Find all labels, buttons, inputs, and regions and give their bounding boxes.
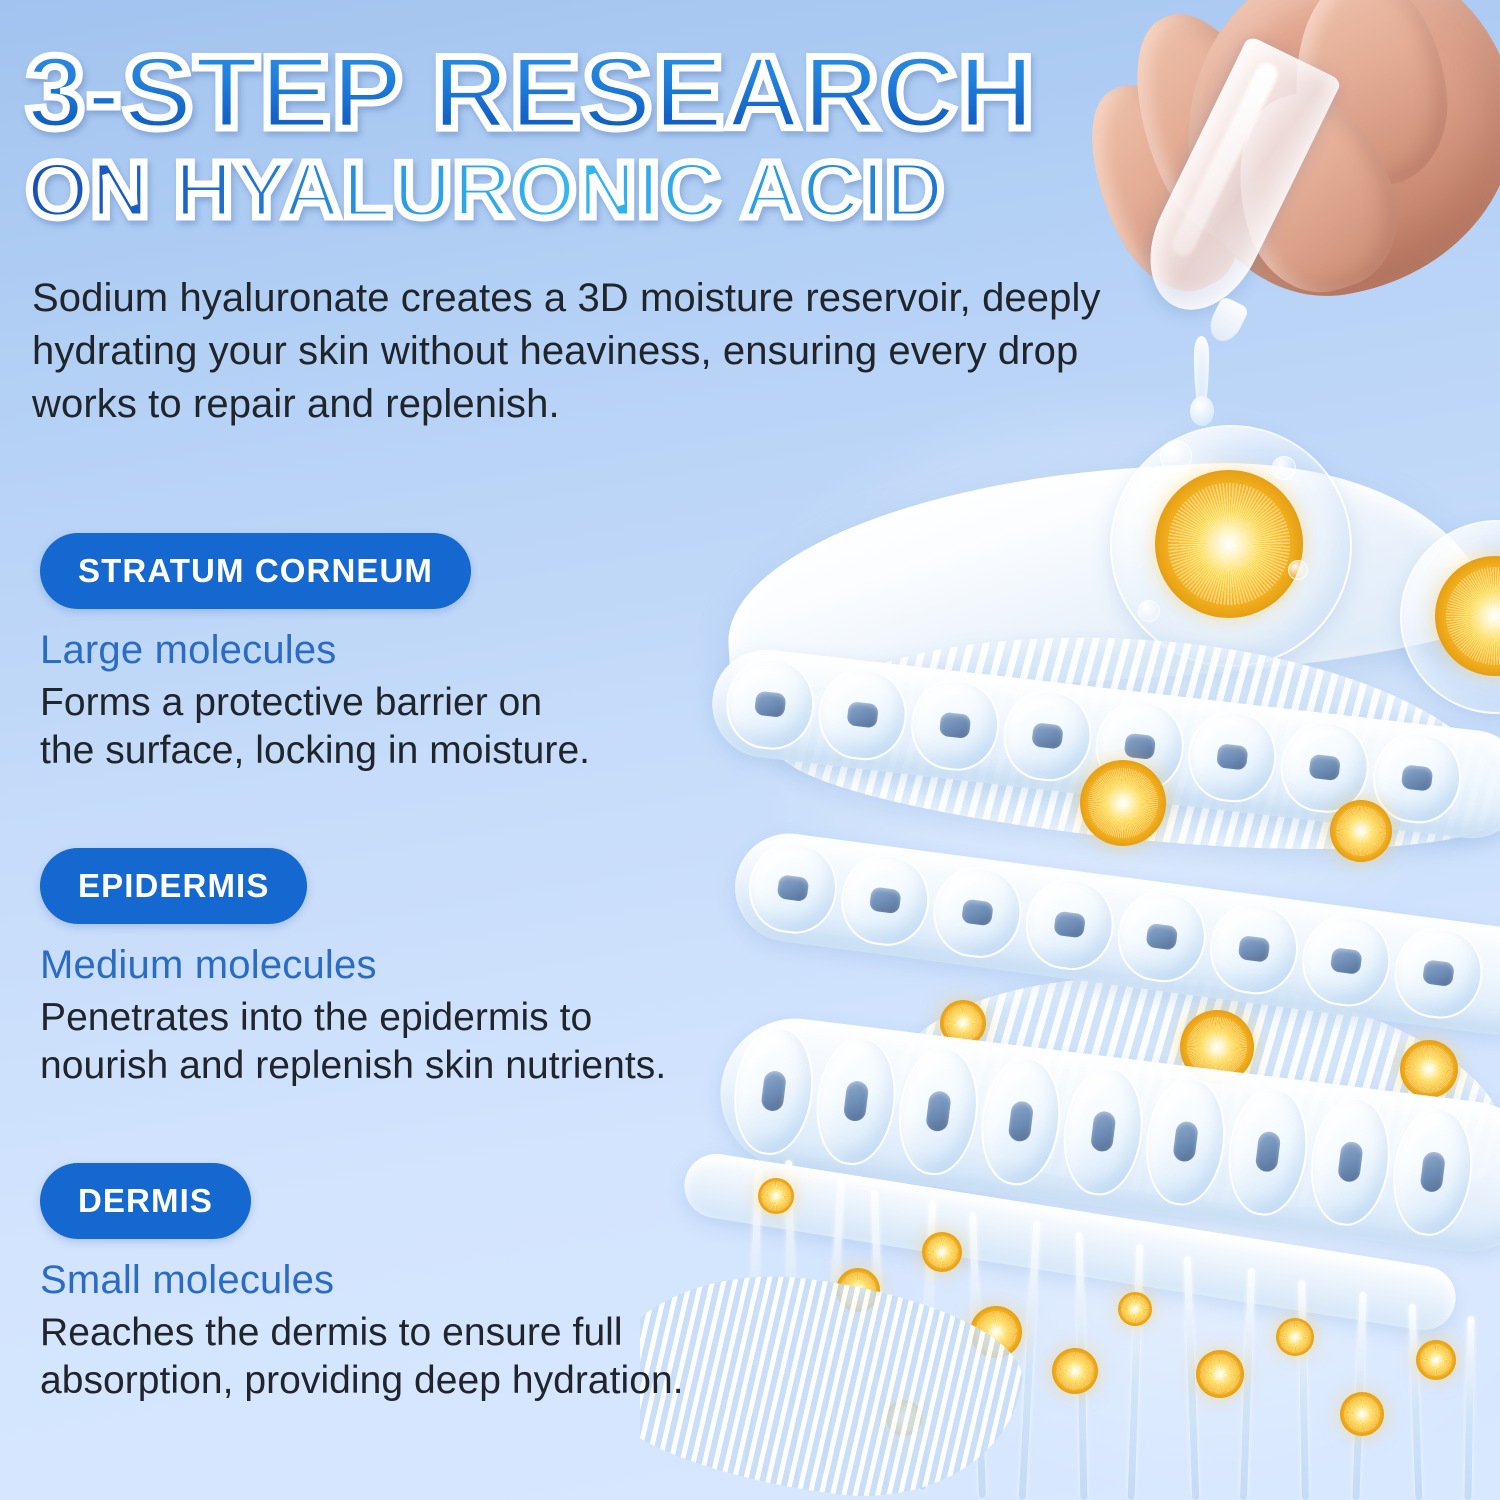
cell-nucleus [1422, 959, 1455, 987]
cell-nucleus [1124, 733, 1157, 760]
headline-line-1: 3-STEP RESEARCH [26, 44, 1107, 144]
cell-nucleus [1337, 1141, 1364, 1183]
cell-nucleus [760, 1070, 787, 1112]
collagen-fiber [1240, 1268, 1255, 1500]
hyaluronic-molecule-icon [1400, 1040, 1458, 1098]
skin-cell [1304, 1094, 1397, 1231]
collagen-fiber [1464, 1316, 1474, 1500]
layer-badge: STRATUM CORNEUM [40, 533, 471, 609]
micro-bubble-icon [1288, 560, 1308, 580]
cell-nucleus [843, 1080, 870, 1122]
cell-nucleus [777, 874, 810, 902]
skin-cell [744, 838, 843, 939]
skin-cell [1297, 911, 1396, 1012]
headline: 3-STEP RESEARCH ON HYALURONIC ACID [26, 44, 1086, 229]
cell-nucleus [1031, 722, 1064, 749]
micro-bubble-icon [1160, 440, 1192, 472]
skin-cell [1205, 899, 1304, 1000]
cell-nucleus [846, 701, 879, 728]
hyaluronic-molecule-icon [1118, 1292, 1152, 1326]
intro-paragraph: Sodium hyaluronate creates a 3D moisture… [32, 272, 1152, 432]
layer-subtitle: Large molecules [40, 628, 590, 672]
layer-subtitle: Small molecules [40, 1258, 684, 1302]
skin-cell [1139, 1073, 1232, 1210]
skin-cell [1389, 923, 1488, 1024]
cell-nucleus [1255, 1131, 1282, 1173]
cell-nucleus [1238, 935, 1271, 963]
layer-section-stratum-corneum: STRATUM CORNEUM Large molecules Forms a … [40, 533, 590, 776]
layer-badge: EPIDERMIS [40, 848, 307, 924]
skin-cell [810, 1033, 903, 1170]
headline-line-2: ON HYALURONIC ACID [26, 152, 1107, 229]
hyaluronic-molecule-icon [1080, 760, 1166, 846]
hyaluronic-molecule-icon [1330, 800, 1392, 862]
hyaluronic-acid-infographic-poster: 3-STEP RESEARCH ON HYALURONIC ACID Sodiu… [0, 0, 1500, 1500]
skin-cell [906, 676, 1004, 775]
layer-section-epidermis: EPIDERMIS Medium molecules Penetrates in… [40, 848, 666, 1091]
cell-nucleus [939, 712, 972, 739]
cell-nucleus [869, 886, 902, 914]
hyaluronic-molecule-icon [1052, 1348, 1098, 1394]
layer-subtitle: Medium molecules [40, 943, 666, 987]
micro-bubble-icon [1138, 600, 1160, 622]
cell-nucleus [961, 899, 994, 927]
skin-cell [1386, 1104, 1479, 1241]
cell-nucleus [1172, 1120, 1199, 1162]
hyaluronic-molecule-icon [1276, 1318, 1314, 1356]
cell-nucleus [1401, 764, 1434, 791]
skin-cell [1221, 1083, 1314, 1220]
skin-cell [1057, 1063, 1150, 1200]
collagen-fiber [1298, 1280, 1309, 1500]
collagen-fiber [1409, 1304, 1423, 1500]
skin-cell [1020, 874, 1119, 975]
cell-nucleus [754, 691, 787, 718]
skin-cell [1183, 707, 1281, 806]
layer-description: Reaches the dermis to ensure full absorp… [40, 1309, 684, 1406]
cell-nucleus [1330, 947, 1363, 975]
skin-cell [1112, 886, 1211, 987]
cell-nucleus [1145, 923, 1178, 951]
cell-nucleus [1007, 1100, 1034, 1142]
layer-description: Forms a protective barrier on the surfac… [40, 679, 590, 776]
layer-section-dermis: DERMIS Small molecules Reaches the dermi… [40, 1163, 684, 1406]
hyaluronic-molecule-icon [922, 1232, 962, 1272]
hyaluronic-molecule-icon [758, 1178, 794, 1214]
skin-cell [999, 686, 1097, 785]
layer-description: Penetrates into the epidermis to nourish… [40, 994, 666, 1091]
skin-cell [892, 1043, 985, 1180]
layer-badge: DERMIS [40, 1163, 251, 1239]
cell-nucleus [1419, 1151, 1446, 1193]
micro-bubble-icon [1272, 456, 1296, 480]
hyaluronic-molecule-icon [1340, 1392, 1384, 1436]
skin-cell [721, 655, 819, 754]
hyaluronic-molecule-icon [1196, 1350, 1244, 1398]
skin-cell [928, 862, 1027, 963]
cell-nucleus [1090, 1110, 1117, 1152]
skin-cell [836, 850, 935, 951]
skin-cell [974, 1053, 1067, 1190]
cell-nucleus [1053, 911, 1086, 939]
cell-nucleus [925, 1090, 952, 1132]
cell-nucleus [1216, 743, 1249, 770]
hyaluronic-molecule-icon [1416, 1340, 1456, 1380]
cell-nucleus [1308, 754, 1341, 781]
skin-cell [814, 665, 912, 764]
serum-droplet-icon [1190, 396, 1214, 426]
hyaluronic-molecule-icon [1155, 470, 1303, 618]
skin-cell [727, 1023, 820, 1160]
